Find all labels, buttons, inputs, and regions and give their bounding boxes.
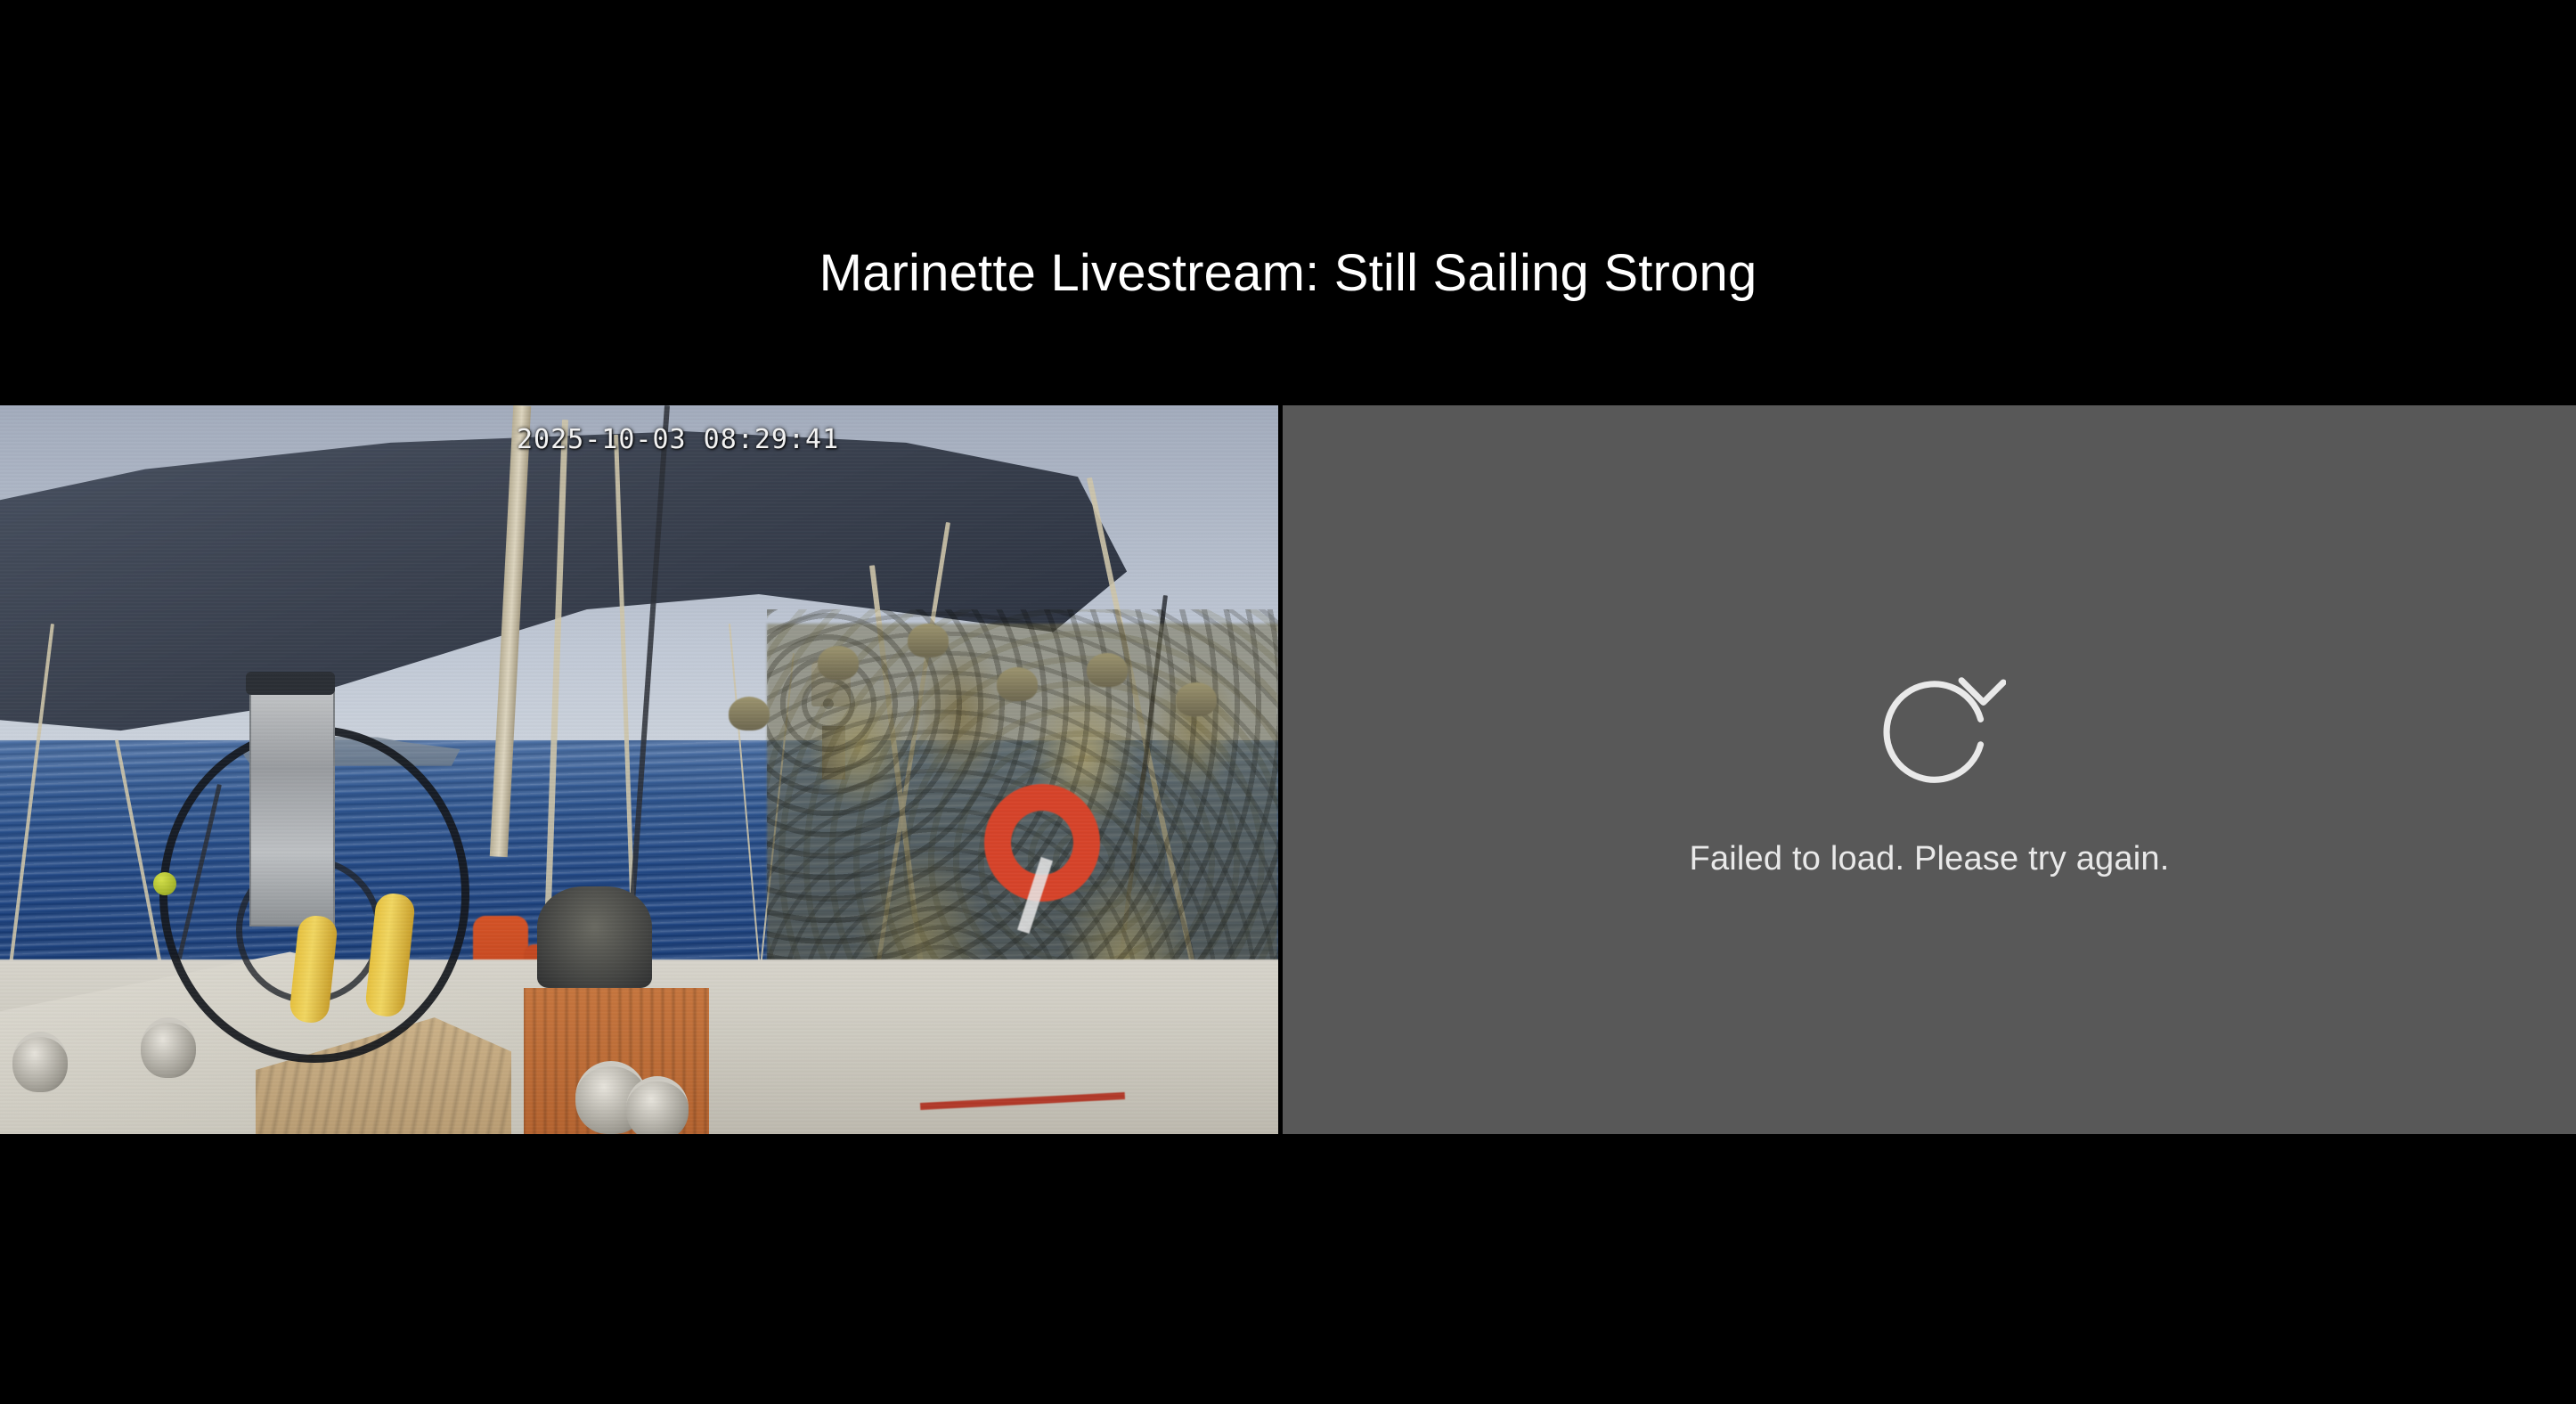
failed-load-content: Failed to load. Please try again. bbox=[1283, 405, 2576, 1134]
cockpit-well bbox=[537, 886, 652, 989]
mooring-float bbox=[153, 872, 176, 895]
failed-load-message: Failed to load. Please try again. bbox=[1690, 838, 2170, 879]
failed-load-panel[interactable]: Failed to load. Please try again. bbox=[1283, 405, 2576, 1134]
media-row: 2025-10-03 08:29:41 Failed to load. Plea… bbox=[0, 405, 2576, 1134]
binnacle-compass-cover bbox=[246, 672, 335, 695]
video-frame bbox=[0, 405, 1278, 1134]
crew-helmet bbox=[997, 667, 1038, 701]
crew-helmet bbox=[818, 646, 859, 680]
crew-helmet bbox=[1087, 653, 1128, 687]
live-video-player[interactable]: 2025-10-03 08:29:41 bbox=[0, 405, 1278, 1134]
page-title: Marinette Livestream: Still Sailing Stro… bbox=[0, 242, 2576, 305]
crew-helmet bbox=[908, 624, 949, 657]
refresh-icon[interactable] bbox=[1865, 660, 2006, 801]
crew-helmet bbox=[729, 697, 770, 731]
video-timestamp-overlay: 2025-10-03 08:29:41 bbox=[517, 424, 839, 456]
screen-root: Marinette Livestream: Still Sailing Stro… bbox=[0, 0, 2576, 1404]
winch bbox=[141, 1017, 196, 1078]
crew-helmet bbox=[1176, 682, 1217, 716]
binnacle-pedestal bbox=[249, 682, 335, 926]
winch bbox=[12, 1032, 68, 1092]
